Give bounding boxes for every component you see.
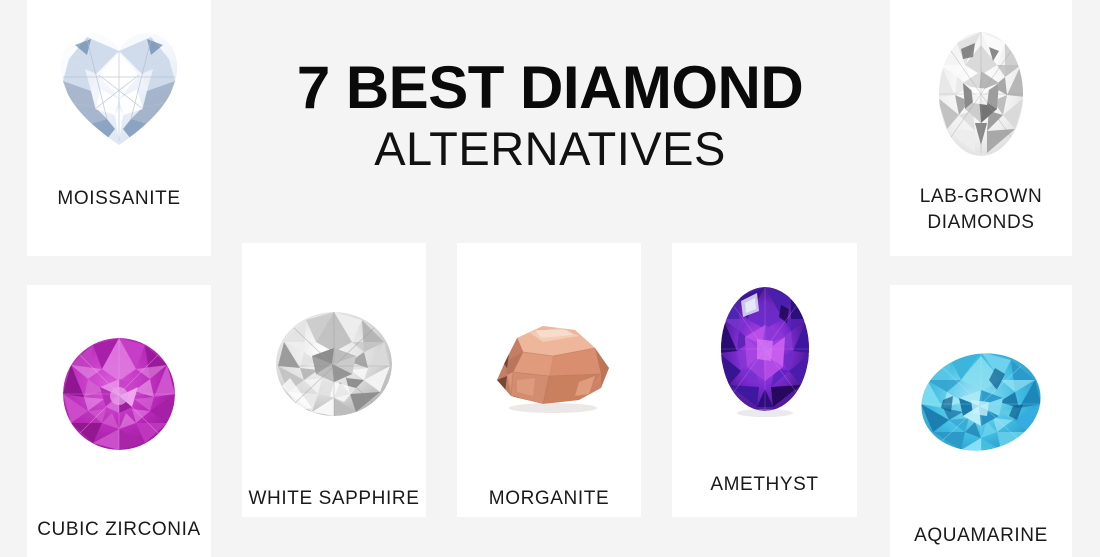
gem-image-moissanite: [27, 0, 211, 184]
oval-brilliant-gem-icon: [931, 27, 1031, 161]
gem-card-morganite[interactable]: MORGANITE: [457, 243, 641, 517]
gem-label-white-sapphire: WHITE SAPPHIRE: [242, 486, 426, 512]
rough-crystal-gem-icon: [483, 314, 615, 414]
heart-gem-icon: [57, 29, 181, 149]
gem-image-amethyst: [672, 243, 857, 442]
infographic-canvas: 7 BEST DIAMOND ALTERNATIVES: [0, 0, 1100, 550]
gem-label-amethyst: AMETHYST: [672, 472, 857, 498]
title-line-secondary: ALTERNATIVES: [230, 124, 870, 173]
gem-card-lab-grown-diamonds[interactable]: LAB-GROWN DIAMONDS: [890, 0, 1072, 256]
gem-card-cubic-zirconia[interactable]: CUBIC ZIRCONIA: [27, 285, 211, 557]
gem-label-cubic-zirconia: CUBIC ZIRCONIA: [27, 517, 211, 543]
gem-image-aquamarine: [890, 285, 1072, 497]
gem-image-morganite: [457, 243, 641, 456]
gem-image-cubic-zirconia: [27, 285, 211, 489]
title-line-primary: 7 BEST DIAMOND: [230, 58, 870, 118]
oval-gem-icon: [917, 346, 1045, 458]
round-brilliant-gem-icon: [60, 335, 178, 453]
round-brilliant-tilted-gem-icon: [272, 308, 396, 420]
gem-card-aquamarine[interactable]: AQUAMARINE: [890, 285, 1072, 557]
gem-card-white-sapphire[interactable]: WHITE SAPPHIRE: [242, 243, 426, 517]
gem-label-morganite: MORGANITE: [457, 486, 641, 512]
gem-card-moissanite[interactable]: MOISSANITE: [27, 0, 211, 256]
gem-image-lab-grown-diamonds: [890, 0, 1072, 180]
gem-label-aquamarine: AQUAMARINE: [890, 523, 1072, 549]
gem-label-moissanite: MOISSANITE: [27, 186, 211, 212]
page-title: 7 BEST DIAMOND ALTERNATIVES: [230, 58, 870, 173]
gem-card-amethyst[interactable]: AMETHYST: [672, 243, 857, 517]
oval-gem-icon: [713, 283, 817, 417]
gem-label-lab-grown-diamonds: LAB-GROWN DIAMONDS: [890, 184, 1072, 235]
gem-image-white-sapphire: [242, 243, 426, 456]
